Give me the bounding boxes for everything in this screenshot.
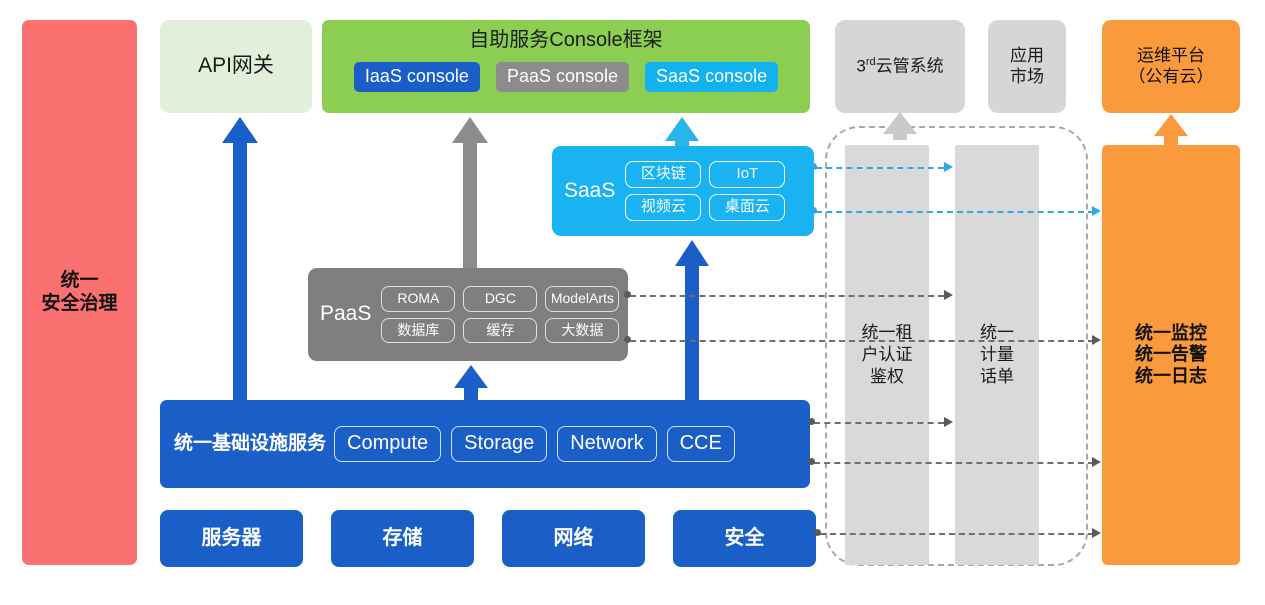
saas-item-blockchain[interactable]: 区块链 bbox=[625, 161, 701, 188]
saas-item-desktop-cloud[interactable]: 桌面云 bbox=[709, 194, 785, 221]
app-market-line1: 应用 bbox=[1010, 46, 1044, 66]
api-gateway-label: API网关 bbox=[198, 54, 274, 79]
ops-pillar-line3: 统一日志 bbox=[1135, 366, 1207, 387]
dashed-line-paas-to-auth bbox=[630, 295, 944, 297]
bottom-box-network[interactable]: 网络 bbox=[502, 510, 645, 567]
paas-item-cache[interactable]: 缓存 bbox=[463, 318, 537, 344]
security-pillar-line2: 安全治理 bbox=[41, 293, 117, 315]
paas-label: PaaS bbox=[320, 302, 371, 327]
arrowhead-infra-to-ops bbox=[1092, 457, 1101, 467]
bottom-box-storage[interactable]: 存储 bbox=[331, 510, 474, 567]
ops-platform-box: 运维平台 （公有云） bbox=[1102, 20, 1240, 113]
up-arrow-infra-to-saas bbox=[675, 240, 709, 400]
infra-chip-row: Compute Storage Network CCE bbox=[334, 426, 735, 463]
paas-item-bigdata[interactable]: 大数据 bbox=[545, 318, 619, 344]
unified-metering-billing-column: 统一 计量 话单 bbox=[955, 145, 1039, 565]
console-chip-row: IaaS console PaaS console SaaS console bbox=[354, 62, 778, 92]
arrowhead-saas-to-ops bbox=[1092, 206, 1101, 216]
third-cloud-label: 3rd云管系统 bbox=[856, 56, 943, 77]
up-arrow-shared-to-third-cloud bbox=[883, 112, 917, 140]
auth-col-line3: 鉴权 bbox=[862, 366, 913, 388]
bottom-box-security[interactable]: 安全 bbox=[673, 510, 816, 567]
arrowhead-paas-to-auth bbox=[944, 290, 953, 300]
up-arrow-ops-pillar-to-ops-top bbox=[1154, 114, 1188, 145]
paas-service-grid: ROMA DGC ModelArts 数据库 缓存 大数据 bbox=[381, 286, 619, 343]
paas-item-dgc[interactable]: DGC bbox=[463, 286, 537, 312]
arrowhead-bottom-to-ops bbox=[1092, 528, 1101, 538]
ops-monitoring-pillar: 统一监控 统一告警 统一日志 bbox=[1102, 145, 1240, 565]
paas-block: PaaS ROMA DGC ModelArts 数据库 缓存 大数据 bbox=[308, 268, 628, 361]
saas-console-chip[interactable]: SaaS console bbox=[645, 62, 778, 92]
meter-col-line3: 话单 bbox=[980, 366, 1014, 388]
meter-col-line2: 计量 bbox=[980, 344, 1014, 366]
security-pillar-line1: 统一 bbox=[41, 270, 117, 292]
infra-chip-compute[interactable]: Compute bbox=[334, 426, 441, 463]
up-arrow-saas-to-console bbox=[665, 117, 699, 146]
paas-item-roma[interactable]: ROMA bbox=[381, 286, 455, 312]
console-frame-title: 自助服务Console框架 bbox=[469, 29, 662, 53]
unified-security-governance-pillar: 统一 安全治理 bbox=[22, 20, 137, 565]
bottom-box-server[interactable]: 服务器 bbox=[160, 510, 303, 567]
dashed-line-paas-to-ops bbox=[630, 340, 1094, 342]
dashed-line-saas-to-ops bbox=[816, 211, 1094, 213]
arrowhead-infra-to-auth bbox=[944, 417, 953, 427]
up-arrow-infra-to-api-gateway bbox=[222, 117, 258, 400]
infra-chip-storage[interactable]: Storage bbox=[451, 426, 547, 463]
saas-block: SaaS 区块链 IoT 视频云 桌面云 bbox=[552, 146, 814, 236]
ops-pillar-line1: 统一监控 bbox=[1135, 323, 1207, 344]
unified-infrastructure-bar: 统一基础设施服务 Compute Storage Network CCE bbox=[160, 400, 810, 488]
paas-item-modelarts[interactable]: ModelArts bbox=[545, 286, 619, 312]
dashed-line-infra-to-auth bbox=[814, 422, 944, 424]
infra-chip-cce[interactable]: CCE bbox=[667, 426, 735, 463]
ops-pillar-line2: 统一告警 bbox=[1135, 344, 1207, 365]
saas-service-grid: 区块链 IoT 视频云 桌面云 bbox=[625, 161, 785, 220]
third-party-cloud-mgmt-box: 3rd云管系统 bbox=[835, 20, 965, 113]
arrowhead-paas-to-ops bbox=[1092, 335, 1101, 345]
dashed-line-infra-to-ops bbox=[814, 462, 1094, 464]
dashed-line-bottom-to-ops bbox=[820, 533, 1094, 535]
app-market-line2: 市场 bbox=[1010, 67, 1044, 87]
unified-tenant-auth-column: 统一租 户认证 鉴权 bbox=[845, 145, 929, 565]
ops-top-line2: （公有云） bbox=[1129, 67, 1214, 87]
auth-col-line2: 户认证 bbox=[862, 344, 913, 366]
app-market-box: 应用 市场 bbox=[988, 20, 1066, 113]
saas-item-iot[interactable]: IoT bbox=[709, 161, 785, 188]
paas-console-chip[interactable]: PaaS console bbox=[496, 62, 629, 92]
iaas-console-chip[interactable]: IaaS console bbox=[354, 62, 480, 92]
ops-top-line1: 运维平台 bbox=[1129, 46, 1214, 66]
infra-label: 统一基础设施服务 bbox=[174, 433, 326, 455]
api-gateway-box: API网关 bbox=[160, 20, 312, 113]
up-arrow-infra-to-paas bbox=[454, 365, 488, 400]
saas-item-video-cloud[interactable]: 视频云 bbox=[625, 194, 701, 221]
architecture-diagram: 统一 安全治理 API网关 自助服务Console框架 IaaS console… bbox=[0, 0, 1265, 605]
paas-item-database[interactable]: 数据库 bbox=[381, 318, 455, 344]
up-arrow-paas-to-console bbox=[452, 117, 488, 268]
arrowhead-saas-to-auth bbox=[944, 162, 953, 172]
saas-label: SaaS bbox=[564, 179, 615, 204]
infra-chip-network[interactable]: Network bbox=[557, 426, 656, 463]
dashed-line-saas-to-auth bbox=[816, 167, 944, 169]
self-service-console-frame: 自助服务Console框架 IaaS console PaaS console … bbox=[322, 20, 810, 113]
